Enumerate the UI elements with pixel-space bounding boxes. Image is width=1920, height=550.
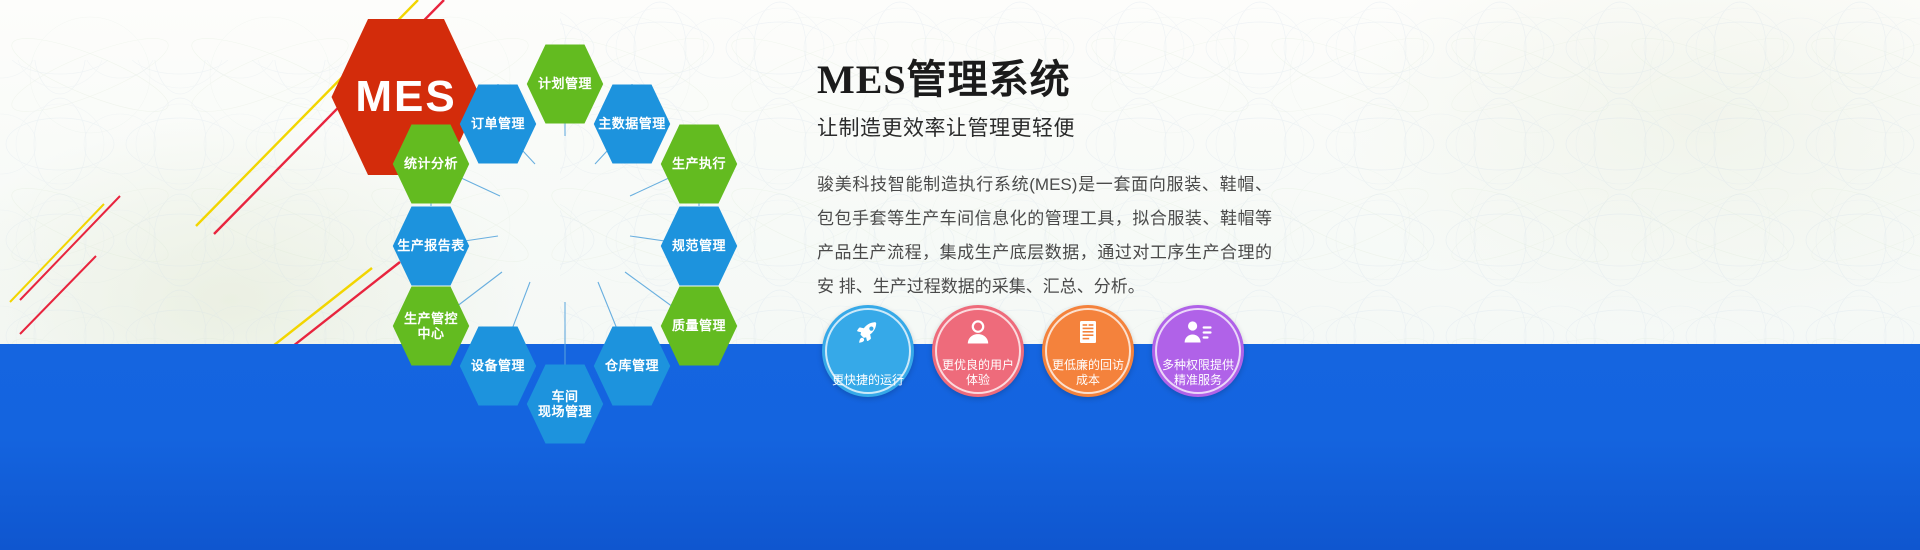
banner-description: 骏美科技智能制造执行系统(MES)是一套面向服装、鞋帽、包包手套等生产车间信息化…: [817, 168, 1272, 304]
diagram-node-label: 仓库管理: [601, 358, 663, 373]
feature-badge-experience[interactable]: 更优良的用户体验: [932, 305, 1024, 397]
document-icon: [1042, 317, 1134, 347]
feature-badge-permissions[interactable]: 多种权限提供精准服务: [1152, 305, 1244, 397]
diagram-node-label: 规范管理: [668, 238, 730, 253]
banner-text-column: MES管理系统 让制造更效率让管理更轻便 骏美科技智能制造执行系统(MES)是一…: [817, 58, 1517, 304]
diagram-center-label: MES: [351, 71, 460, 122]
diagram-node-label: 生产管控中心: [400, 311, 462, 341]
diagram-node-label: 生产执行: [668, 156, 730, 171]
diagram-node-label: 订单管理: [467, 116, 529, 131]
user-icon: [932, 317, 1024, 347]
feature-badge-cost[interactable]: 更低廉的回访成本: [1042, 305, 1134, 397]
diagram-node-label: 主数据管理: [594, 116, 670, 131]
feature-badge-fast[interactable]: 更快捷的运行: [822, 305, 914, 397]
diagram-node-label: 车间现场管理: [534, 389, 596, 419]
page-subtitle: 让制造更效率让管理更轻便: [817, 112, 1517, 142]
page-title: MES管理系统: [817, 58, 1517, 102]
diagram-node-label: 计划管理: [534, 76, 596, 91]
feature-badge-label: 多种权限提供精准服务: [1156, 358, 1240, 388]
mes-banner: MES 计划管理 主数据管理 生产执行 规范管理 质量管理 仓库管理 车间现场管…: [0, 0, 1920, 550]
mes-hexagon-diagram: MES 计划管理 主数据管理 生产执行 规范管理 质量管理 仓库管理 车间现场管…: [330, 14, 790, 434]
diagram-node-label: 统计分析: [400, 156, 462, 171]
user-list-icon: [1152, 317, 1244, 347]
feature-badge-label: 更优良的用户体验: [936, 358, 1020, 388]
diagram-node-label: 设备管理: [467, 358, 529, 373]
banner-description-text: 骏美科技智能制造执行系统(MES)是一套面向服装、鞋帽、包包手套等生产车间信息化…: [817, 168, 1272, 304]
feature-badge-list: 更快捷的运行 更优良的用户体验: [822, 305, 1244, 397]
rocket-icon: [822, 317, 914, 347]
feature-badge-label: 更快捷的运行: [826, 373, 910, 388]
feature-badge-label: 更低廉的回访成本: [1046, 358, 1130, 388]
diagram-node-label: 生产报告表: [393, 238, 469, 253]
diagram-node-label: 质量管理: [668, 318, 730, 333]
